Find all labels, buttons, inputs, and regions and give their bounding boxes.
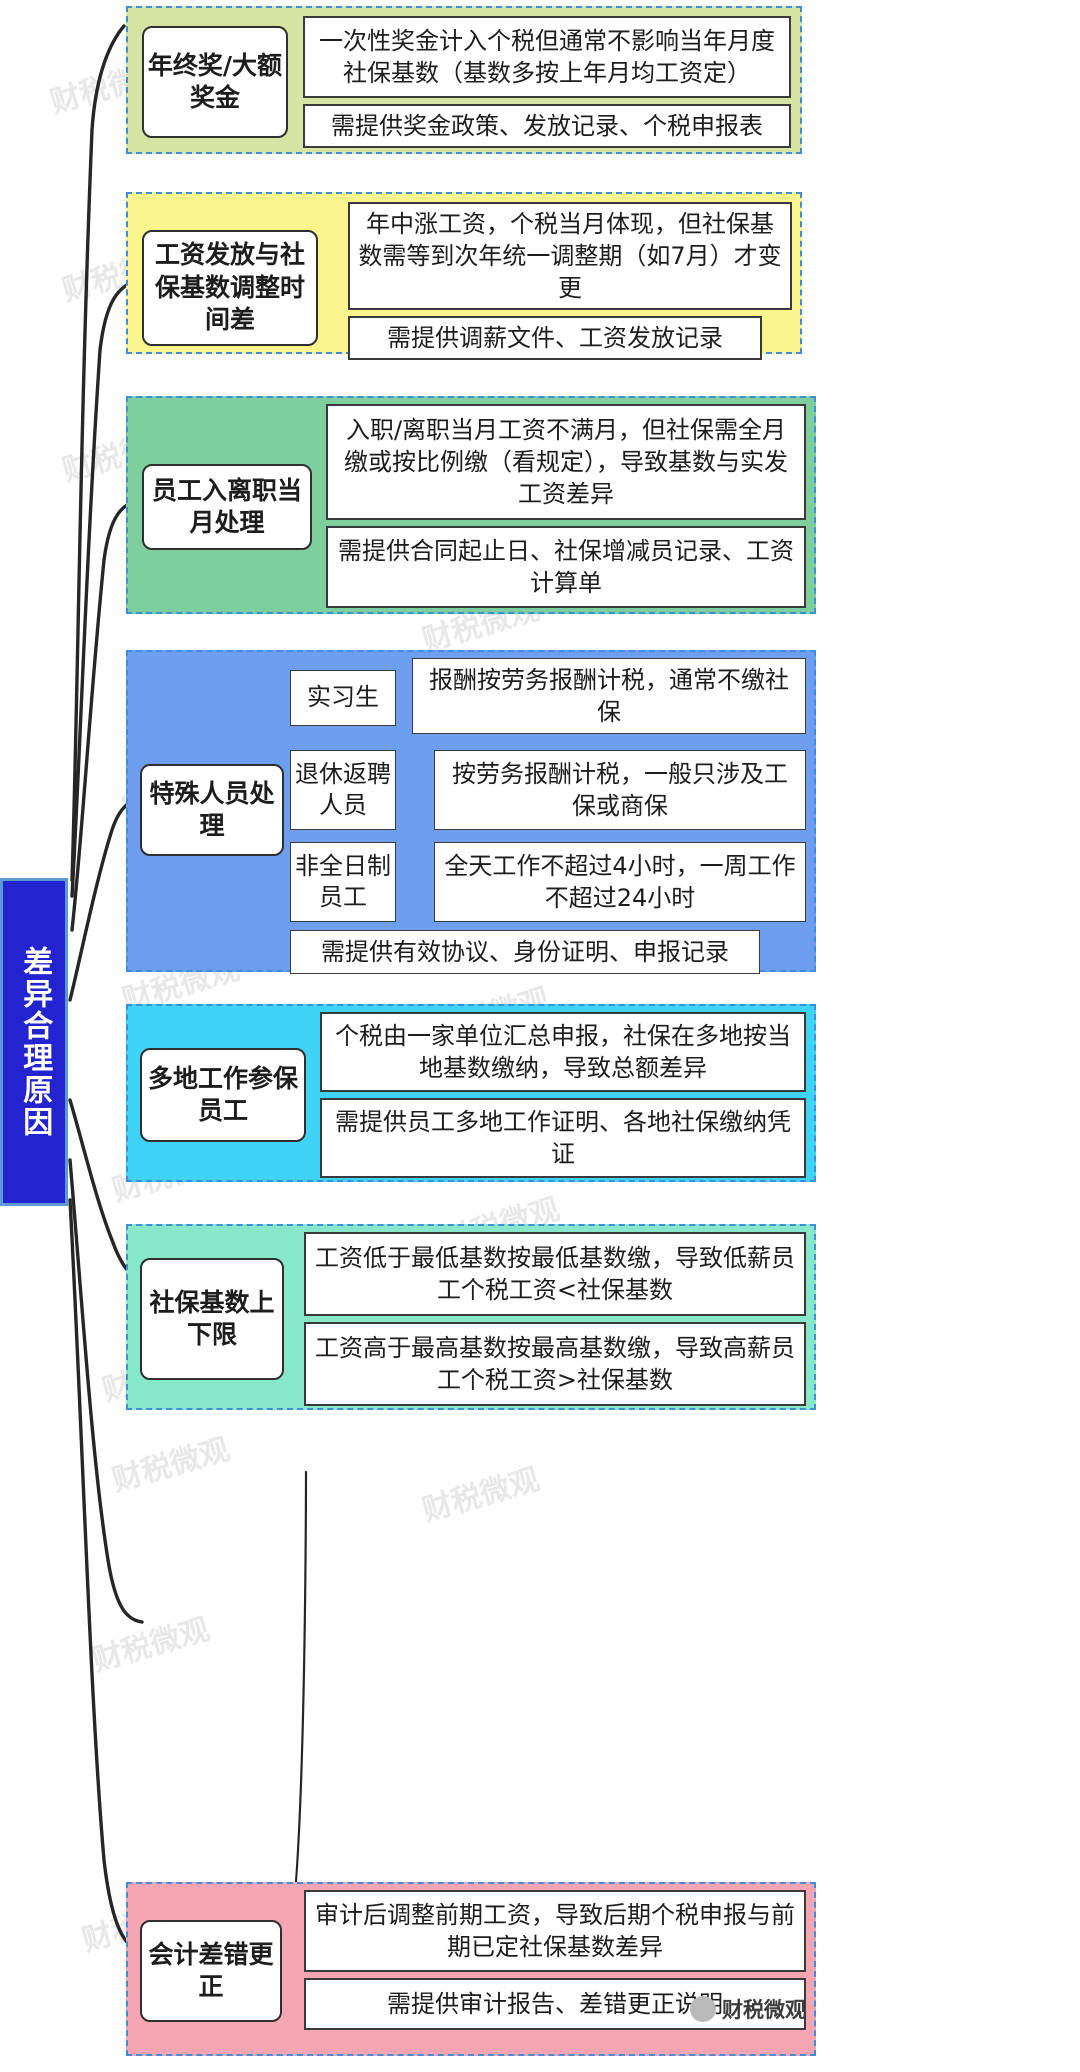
branch-onboard-offboard-month[interactable]: 员工入离职当月处理 入职/离职当月工资不满月，但社保需全月缴或按比例缴（看规定）… [126, 396, 816, 614]
leaf-node[interactable]: 报酬按劳务报酬计税，通常不缴社保 [412, 658, 806, 734]
watermark: 财税微观 [106, 1424, 233, 1499]
leaf-node[interactable]: 个税由一家单位汇总申报，社保在多地按当地基数缴纳，导致总额差异 [320, 1012, 806, 1092]
watermark: 财税微观 [416, 1454, 543, 1529]
branch-multi-region-insured[interactable]: 多地工作参保员工 个税由一家单位汇总申报，社保在多地按当地基数缴纳，导致总额差异… [126, 1004, 816, 1182]
brand-logo-label: 财税微观 [722, 1994, 806, 2024]
leaf-node[interactable]: 按劳务报酬计税，一般只涉及工保或商保 [434, 750, 806, 830]
leaf-node[interactable]: 工资高于最高基数按最高基数缴，导致高薪员工个税工资>社保基数 [304, 1322, 806, 1406]
branch-pay-timing-gap[interactable]: 工资发放与社保基数调整时间差 年中涨工资，个税当月体现，但社保基数需等到次年统一… [126, 192, 802, 354]
leaf-node[interactable]: 需提供调薪文件、工资发放记录 [348, 316, 762, 360]
branch-topic-year-end-bonus[interactable]: 年终奖/大额奖金 [142, 26, 288, 138]
brand-logo: 财税微观 [690, 1994, 806, 2024]
root-node[interactable]: 差异合理原因 [0, 878, 68, 1206]
subtopic-intern[interactable]: 实习生 [290, 670, 396, 726]
leaf-node[interactable]: 一次性奖金计入个税但通常不影响当年月度社保基数（基数多按上年月均工资定） [303, 16, 791, 98]
leaf-node[interactable]: 审计后调整前期工资，导致后期个税申报与前期已定社保基数差异 [304, 1890, 806, 1972]
leaf-node[interactable]: 年中涨工资，个税当月体现，但社保基数需等到次年统一调整期（如7月）才变更 [348, 202, 792, 310]
root-node-label: 差异合理原因 [13, 946, 56, 1138]
watermark: 财税微观 [86, 1604, 213, 1679]
circle-logo-icon [690, 1996, 716, 2022]
branch-year-end-bonus[interactable]: 年终奖/大额奖金 一次性奖金计入个税但通常不影响当年月度社保基数（基数多按上年月… [126, 6, 802, 154]
branch-special-personnel[interactable]: 特殊人员处理 实习生 报酬按劳务报酬计税，通常不缴社保 退休返聘人员 按劳务报酬… [126, 650, 816, 972]
branch-base-limits[interactable]: 社保基数上下限 工资低于最低基数按最低基数缴，导致低薪员工个税工资<社保基数 工… [126, 1224, 816, 1410]
branch-topic-base-limits[interactable]: 社保基数上下限 [140, 1258, 284, 1380]
leaf-node[interactable]: 需提供有效协议、身份证明、申报记录 [290, 930, 760, 974]
subtopic-rehired-retiree[interactable]: 退休返聘人员 [290, 750, 396, 830]
branch-topic-accounting-error-correction[interactable]: 会计差错更正 [140, 1920, 282, 2022]
branch-topic-special-personnel[interactable]: 特殊人员处理 [140, 764, 284, 856]
branch-topic-pay-timing-gap[interactable]: 工资发放与社保基数调整时间差 [142, 230, 318, 346]
leaf-node[interactable]: 全天工作不超过4小时，一周工作不超过24小时 [434, 842, 806, 922]
mindmap-canvas: 财税微观 财税微观 财税微观 财税微观 财税微观 财税微观 财税微观 财税微观 … [0, 0, 1080, 2072]
leaf-node[interactable]: 需提供奖金政策、发放记录、个税申报表 [303, 104, 791, 148]
branch-topic-multi-region-insured[interactable]: 多地工作参保员工 [140, 1048, 306, 1142]
leaf-node[interactable]: 需提供员工多地工作证明、各地社保缴纳凭证 [320, 1098, 806, 1178]
subtopic-part-time-employee[interactable]: 非全日制员工 [290, 842, 396, 922]
leaf-node[interactable]: 工资低于最低基数按最低基数缴，导致低薪员工个税工资<社保基数 [304, 1232, 806, 1316]
branch-topic-onboard-offboard-month[interactable]: 员工入离职当月处理 [142, 464, 312, 550]
branch-accounting-error-correction[interactable]: 会计差错更正 审计后调整前期工资，导致后期个税申报与前期已定社保基数差异 需提供… [126, 1882, 816, 2056]
leaf-node[interactable]: 入职/离职当月工资不满月，但社保需全月缴或按比例缴（看规定），导致基数与实发工资… [326, 404, 806, 520]
leaf-node[interactable]: 需提供合同起止日、社保增减员记录、工资计算单 [326, 526, 806, 608]
